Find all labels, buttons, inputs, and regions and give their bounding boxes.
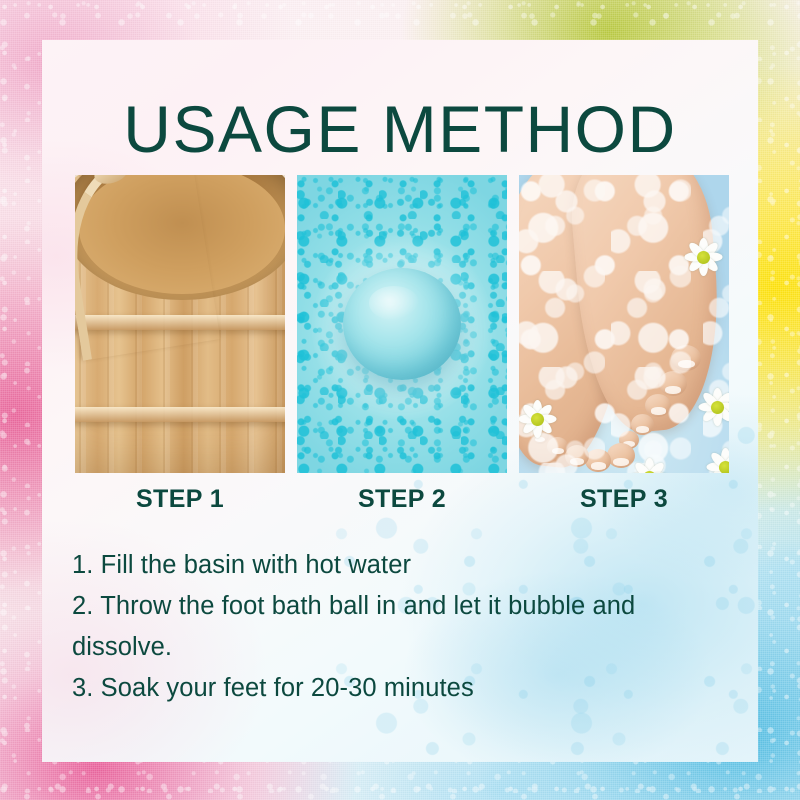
- toe: [659, 371, 687, 396]
- toe: [671, 345, 701, 371]
- bath-bomb-photo: [297, 175, 507, 473]
- step-label-3: STEP 3: [519, 485, 729, 514]
- toe: [585, 449, 611, 472]
- content-panel: USAGE METHOD: [42, 40, 758, 762]
- daisy-flower-icon: [519, 399, 557, 439]
- instruction-line: 1. Fill the basin with hot water: [72, 545, 732, 586]
- basin-metal-band-lower: [75, 407, 285, 422]
- instruction-list: 1. Fill the basin with hot water 2. Thro…: [72, 545, 732, 709]
- instruction-line: 3. Soak your feet for 20-30 minutes: [72, 668, 732, 709]
- feet-soaking-photo: [519, 175, 729, 473]
- daisy-flower-icon: [705, 447, 729, 473]
- usage-method-poster: USAGE METHOD: [0, 0, 800, 800]
- basin-handle: [75, 175, 220, 361]
- instruction-line: dissolve.: [72, 627, 732, 668]
- daisy-flower-icon: [629, 457, 669, 473]
- step-label-row: STEP 1 STEP 2 STEP 3: [75, 485, 728, 514]
- bath-bomb-ball: [343, 268, 461, 380]
- step-label-1: STEP 1: [75, 485, 285, 514]
- toe: [565, 445, 589, 467]
- step-label-2: STEP 2: [297, 485, 507, 514]
- daisy-flower-icon: [683, 237, 723, 277]
- page-title: USAGE METHOD: [42, 96, 758, 162]
- daisy-flower-icon: [697, 387, 729, 427]
- toe: [645, 394, 671, 417]
- toe: [547, 437, 568, 456]
- step-image-row: [75, 175, 728, 473]
- wooden-basin-photo: [75, 175, 285, 473]
- instruction-line: 2. Throw the foot bath ball in and let i…: [72, 586, 732, 627]
